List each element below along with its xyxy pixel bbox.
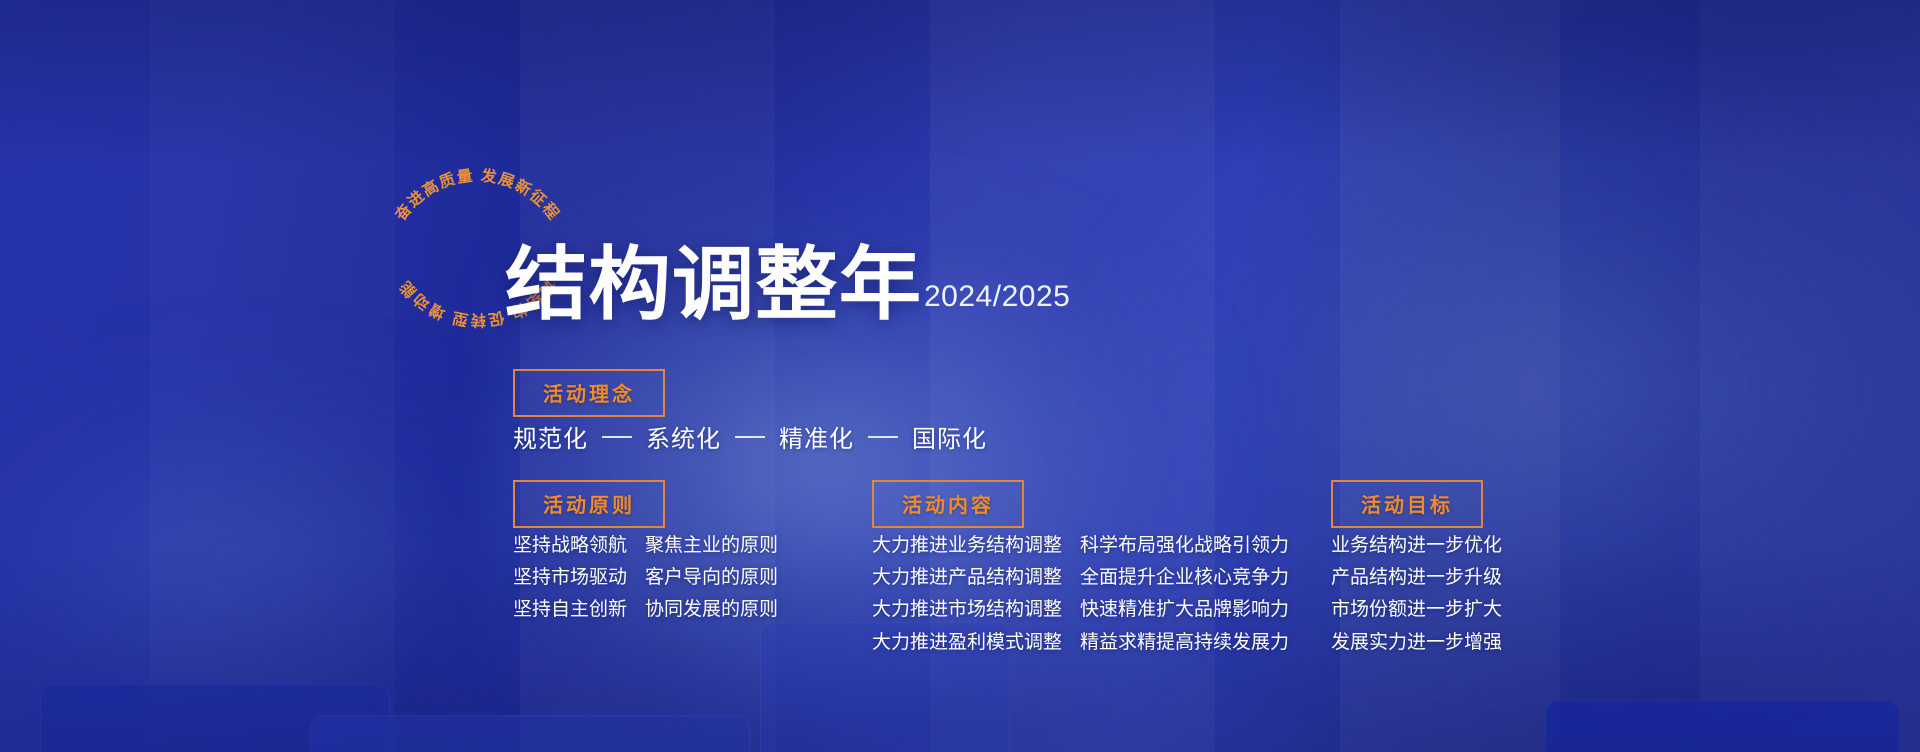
list-item-secondary: 协同发展的原则 (645, 598, 778, 621)
concept-separator (602, 436, 632, 438)
list-item: 坚持市场驱动客户导向的原则 (513, 566, 778, 589)
concept-item: 规范化 (513, 419, 588, 454)
badge-concept: 活动理念 (513, 369, 665, 417)
concept-separator (735, 436, 765, 438)
headline-group: 结构调整年 2024/2025 (505, 247, 1070, 323)
concept-line: 规范化系统化精准化国际化 (513, 419, 987, 454)
seal-top-arc-label: 奋进高质量 发展新征程 (390, 165, 563, 224)
list-item-secondary: 聚焦主业的原则 (645, 534, 778, 557)
list-item: 发展实力进一步增强 (1331, 631, 1502, 654)
list-item: 大力推进市场结构调整快速精准扩大品牌影响力 (872, 598, 1289, 621)
list-item: 市场份额进一步扩大 (1331, 598, 1502, 621)
list-item-secondary: 全面提升企业核心竞争力 (1080, 566, 1289, 589)
concept-item: 国际化 (912, 419, 987, 454)
list-item: 大力推进业务结构调整科学布局强化战略引领力 (872, 534, 1289, 557)
list-item-primary: 市场份额进一步扩大 (1331, 598, 1502, 621)
list-item-secondary: 科学布局强化战略引领力 (1080, 534, 1289, 557)
column-goal: 业务结构进一步优化产品结构进一步升级市场份额进一步扩大发展实力进一步增强 (1331, 534, 1502, 663)
list-item-primary: 产品结构进一步升级 (1331, 566, 1502, 589)
list-item-secondary: 客户导向的原则 (645, 566, 778, 589)
badge-content: 活动内容 (872, 480, 1024, 528)
list-item-primary: 大力推进市场结构调整 (872, 598, 1062, 621)
headline-years: 2024/2025 (924, 280, 1070, 323)
list-item: 坚持战略领航聚焦主业的原则 (513, 534, 778, 557)
concept-item: 系统化 (646, 419, 721, 454)
list-item-primary: 坚持市场驱动 (513, 566, 627, 589)
campaign-banner: 奋进高质量 发展新征程 调结构 促转型 增动能 结构调整年 2024/2025 … (0, 0, 1920, 752)
list-item: 大力推进产品结构调整全面提升企业核心竞争力 (872, 566, 1289, 589)
concept-separator (868, 436, 898, 438)
page-title: 结构调整年 (505, 247, 922, 323)
list-item-primary: 坚持战略领航 (513, 534, 627, 557)
column-principle: 坚持战略领航聚焦主业的原则坚持市场驱动客户导向的原则坚持自主创新协同发展的原则 (513, 534, 778, 631)
list-item-primary: 坚持自主创新 (513, 598, 627, 621)
column-content: 大力推进业务结构调整科学布局强化战略引领力大力推进产品结构调整全面提升企业核心竞… (872, 534, 1289, 663)
list-item: 坚持自主创新协同发展的原则 (513, 598, 778, 621)
list-item-primary: 业务结构进一步优化 (1331, 534, 1502, 557)
badge-goal: 活动目标 (1331, 480, 1483, 528)
concept-item: 精准化 (779, 419, 854, 454)
list-item-primary: 发展实力进一步增强 (1331, 631, 1502, 654)
list-item: 产品结构进一步升级 (1331, 566, 1502, 589)
list-item-secondary: 快速精准扩大品牌影响力 (1080, 598, 1289, 621)
list-item-primary: 大力推进盈利模式调整 (872, 631, 1062, 654)
list-item: 业务结构进一步优化 (1331, 534, 1502, 557)
list-item-primary: 大力推进产品结构调整 (872, 566, 1062, 589)
list-item: 大力推进盈利模式调整精益求精提高持续发展力 (872, 631, 1289, 654)
list-item-secondary: 精益求精提高持续发展力 (1080, 631, 1289, 654)
list-item-primary: 大力推进业务结构调整 (872, 534, 1062, 557)
badge-principle: 活动原则 (513, 480, 665, 528)
